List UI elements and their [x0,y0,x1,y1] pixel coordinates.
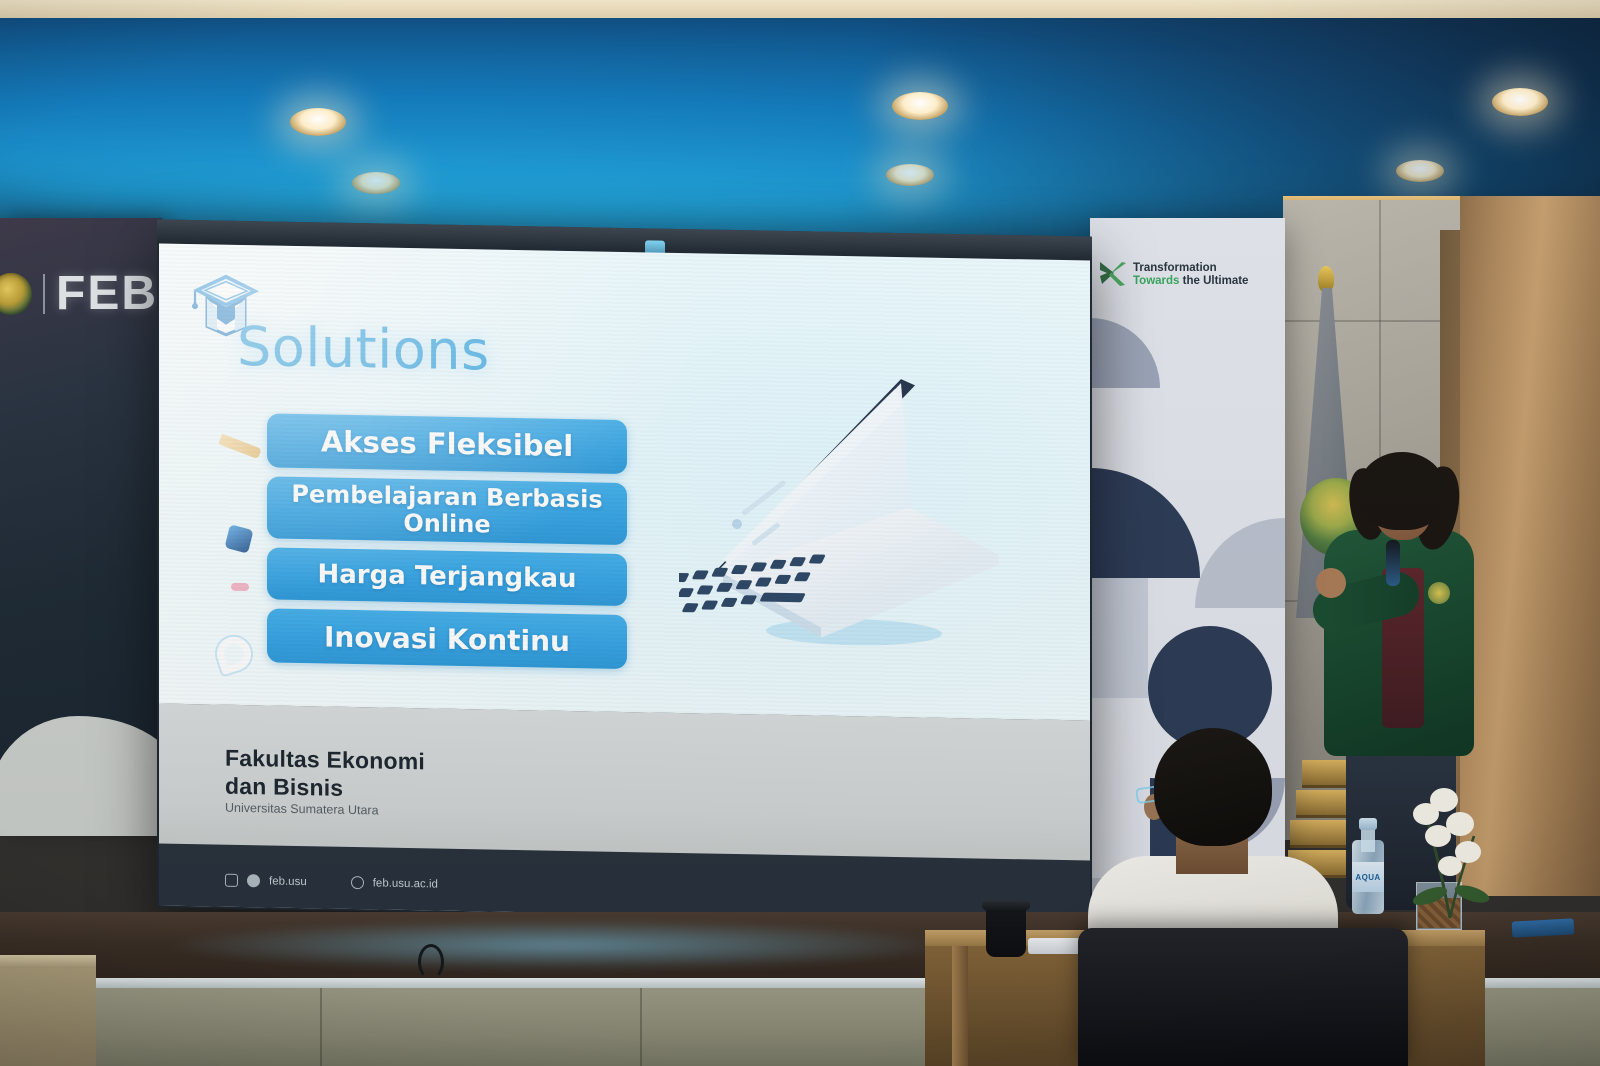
lockup-divider [43,274,45,314]
black-office-chair [1078,928,1408,1066]
bottle-cap [1359,818,1377,830]
downlight-3 [892,92,948,120]
downlight-1 [290,108,346,136]
solution-item-inovasi-kontinu: Inovasi Kontinu [267,608,627,669]
tagline-rest: the Ultimate [1179,275,1248,287]
social-handle-feb-usu: feb.usu [269,875,307,888]
solutions-list: Akses Fleksibel Pembelajaran Berbasis On… [267,413,627,669]
solution-item-harga-terjangkau: Harga Terjangkau [267,547,627,606]
slide-content: Solutions Akses Fleksibel Pembelajaran B… [159,243,1090,720]
blue-phone [1512,918,1575,937]
dot-icon [231,583,249,591]
clip-icon [213,633,256,675]
water-bottle: AQUA [1352,818,1384,914]
stage-cable [418,944,444,980]
tagline-line-2: Towards the Ultimate [1133,275,1248,288]
tagline-line-1: Transformation [1133,262,1248,275]
microphone-icon [1386,540,1400,586]
side-table-top [0,955,96,968]
downlight-4 [886,164,934,186]
feb-label: FEB [56,266,158,321]
downlight-5 [1492,88,1548,116]
social-handle-website: feb.usu.ac.id [373,877,438,890]
globe-icon [351,876,364,889]
slide-footer-banner: Fakultas Ekonomi dan Bisnis Universitas … [159,703,1090,922]
tagline-highlight: Towards [1133,275,1179,287]
faculty-name-line-2: dan Bisnis [225,772,425,803]
presenter-badge-icon [1428,582,1450,604]
facebook-icon [247,874,260,887]
coffee-cup [986,905,1026,957]
faculty-name-line-1: Fakultas Ekonomi [225,745,425,776]
presentation-photo-scene: Transformation Towards the Ultimate FEB [0,0,1600,1066]
presenter-hair [1358,452,1446,530]
bottle-label: AQUA [1352,862,1384,892]
faculty-name: Fakultas Ekonomi dan Bisnis [225,745,425,804]
cube-icon [224,524,253,553]
solution-item-pembelajaran-berbasis-online: Pembelajaran Berbasis Online [267,476,627,545]
feb-lockup: FEB [4,266,158,321]
slide-title: Solutions [237,315,490,383]
foreground-table-leg [952,946,968,1066]
solution-item-akses-fleksibel: Akses Fleksibel [267,413,627,474]
usu-seal-icon [0,273,32,315]
side-table [0,955,96,1066]
attendee-head [1154,728,1272,846]
instagram-icon [225,874,238,887]
projection-screen: Solutions Akses Fleksibel Pembelajaran B… [157,219,1092,924]
downlight-6 [1396,160,1444,182]
coffee-cup-lid [982,900,1030,910]
presenter-hand [1316,568,1346,598]
bottle-neck [1361,828,1375,852]
pencil-icon [218,434,261,459]
backdrop-tagline: Transformation Towards the Ultimate [1133,262,1248,288]
white-orchid-plant [1404,778,1496,924]
university-name: Universitas Sumatera Utara [225,801,379,818]
feb-banner: FEB [0,218,162,830]
isometric-laptop-illustration [679,363,1019,659]
downlight-2 [352,172,400,194]
